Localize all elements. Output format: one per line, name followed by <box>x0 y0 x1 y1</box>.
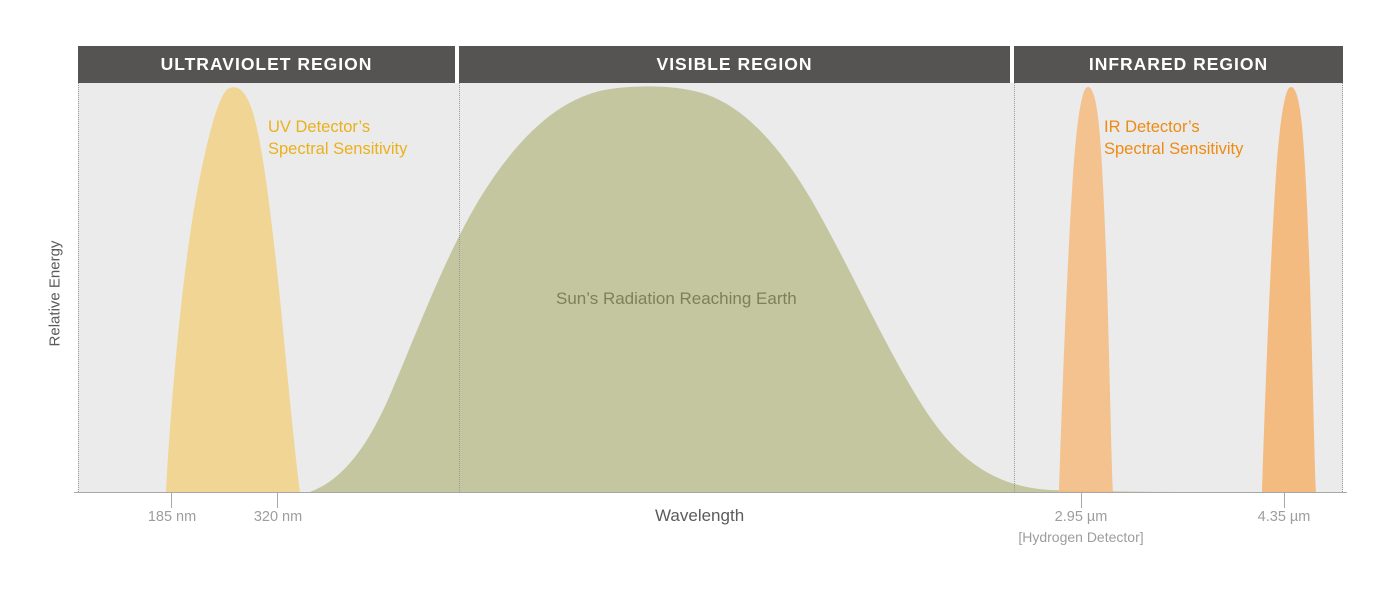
region-header-visible-label: VISIBLE REGION <box>657 54 813 75</box>
sun-radiation-annotation: Sun’s Radiation Reaching Earth <box>556 288 797 310</box>
region-header-visible: VISIBLE REGION <box>459 46 1010 83</box>
region-divider-right <box>1342 83 1343 492</box>
x-axis-label-185nm: 185 nm <box>126 509 218 525</box>
ir-detector-annotation: IR Detector’s Spectral Sensitivity <box>1104 116 1243 160</box>
x-axis-tick-320nm <box>277 493 278 508</box>
x-axis-tick-185nm <box>171 493 172 508</box>
uv-detector-annotation: UV Detector’s Spectral Sensitivity <box>268 116 407 160</box>
x-axis-sublabel-hydrogen-detector: [Hydrogen Detector] <box>1006 529 1156 545</box>
x-axis-label-295um: 2.95 µm <box>1035 509 1127 525</box>
x-axis-tick-295um <box>1081 493 1082 508</box>
x-axis-title: Wavelength <box>655 506 744 526</box>
region-divider-uv-visible <box>459 83 460 492</box>
x-axis-tick-435um <box>1284 493 1285 508</box>
region-header-infrared: INFRARED REGION <box>1014 46 1343 83</box>
x-axis-line <box>74 492 1347 493</box>
ir-detector-curve-2 <box>1262 87 1316 492</box>
y-axis-title: Relative Energy <box>47 214 64 374</box>
region-divider-visible-ir <box>1014 83 1015 492</box>
region-header-ultraviolet: ULTRAVIOLET REGION <box>78 46 455 83</box>
region-divider-left <box>78 83 79 492</box>
region-header-ultraviolet-label: ULTRAVIOLET REGION <box>161 54 373 75</box>
spectral-chart: ULTRAVIOLET REGION VISIBLE REGION INFRAR… <box>0 0 1385 594</box>
region-header-infrared-label: INFRARED REGION <box>1089 54 1268 75</box>
x-axis-label-320nm: 320 nm <box>232 509 324 525</box>
x-axis-label-435um: 4.35 µm <box>1238 509 1330 525</box>
